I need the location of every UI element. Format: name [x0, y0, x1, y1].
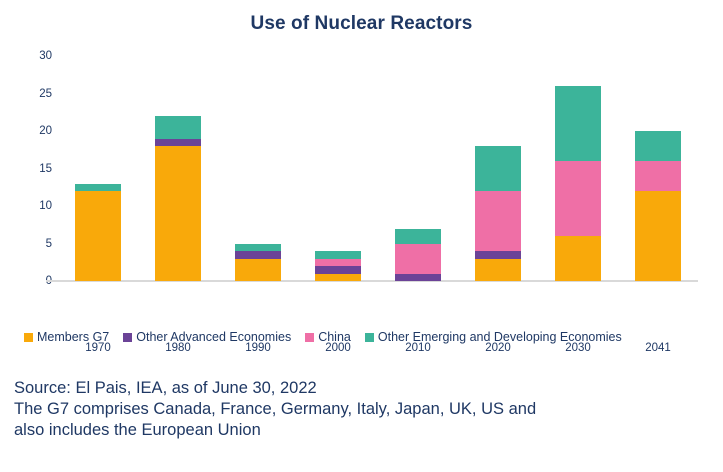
legend-item[interactable]: Members G7 [24, 330, 109, 344]
bar-segment[interactable] [475, 259, 521, 282]
chart-figure: Use of Nuclear Reactors 051015202530 197… [0, 0, 723, 360]
bar-segment[interactable] [635, 161, 681, 191]
bar-segment[interactable] [75, 184, 121, 192]
bar-group[interactable] [395, 229, 441, 282]
bar-segment[interactable] [555, 236, 601, 281]
legend-item[interactable]: China [305, 330, 351, 344]
bar-group[interactable] [555, 86, 601, 281]
y-axis-tick-label: 20 [0, 125, 52, 137]
bar-segment[interactable] [635, 191, 681, 281]
plot-area: 19701980199020002010202020302041 [58, 56, 698, 281]
legend-label: Members G7 [37, 330, 109, 344]
bar-segment[interactable] [395, 274, 441, 282]
legend-label: Other Emerging and Developing Economies [378, 330, 622, 344]
legend-label: Other Advanced Economies [136, 330, 291, 344]
y-axis-tick-label: 0 [0, 275, 52, 287]
bar-segment[interactable] [475, 191, 521, 251]
y-axis-tick-label: 5 [0, 238, 52, 250]
bar-segment[interactable] [315, 251, 361, 259]
y-axis-tick-label: 15 [0, 163, 52, 175]
bar-segment[interactable] [315, 259, 361, 267]
y-axis-tick-label: 25 [0, 88, 52, 100]
y-axis-tick-label: 30 [0, 50, 52, 62]
bar-segment[interactable] [395, 229, 441, 244]
footnote-line-3: also includes the European Union [14, 420, 714, 441]
legend-label: China [318, 330, 351, 344]
bar-segment[interactable] [635, 131, 681, 161]
bar-segment[interactable] [475, 251, 521, 259]
bar-group[interactable] [635, 131, 681, 281]
chart-legend: Members G7Other Advanced EconomiesChinaO… [24, 330, 714, 344]
bar-group[interactable] [475, 146, 521, 281]
bar-group[interactable] [75, 184, 121, 282]
chart-title: Use of Nuclear Reactors [0, 13, 723, 35]
bar-segment[interactable] [475, 146, 521, 191]
bar-group[interactable] [155, 116, 201, 281]
bar-segment[interactable] [155, 139, 201, 147]
legend-swatch-icon [305, 333, 314, 342]
y-axis-tick-label: 10 [0, 200, 52, 212]
footnote-line-2: The G7 comprises Canada, France, Germany… [14, 399, 714, 420]
bar-segment[interactable] [315, 274, 361, 282]
legend-swatch-icon [24, 333, 33, 342]
legend-swatch-icon [365, 333, 374, 342]
bar-segment[interactable] [235, 251, 281, 259]
legend-swatch-icon [123, 333, 132, 342]
legend-item[interactable]: Other Emerging and Developing Economies [365, 330, 622, 344]
y-axis: 051015202530 [0, 56, 52, 281]
bar-segment[interactable] [235, 259, 281, 282]
footnote-line-1: Source: El Pais, IEA, as of June 30, 202… [14, 378, 714, 399]
bar-group[interactable] [235, 244, 281, 282]
bar-group[interactable] [315, 251, 361, 281]
bar-segment[interactable] [555, 86, 601, 161]
footnote: Source: El Pais, IEA, as of June 30, 202… [14, 378, 714, 441]
bar-segment[interactable] [555, 161, 601, 236]
bar-segment[interactable] [235, 244, 281, 252]
bar-segment[interactable] [155, 116, 201, 139]
bar-segment[interactable] [395, 244, 441, 274]
bar-segment[interactable] [315, 266, 361, 274]
bar-segment[interactable] [75, 191, 121, 281]
legend-item[interactable]: Other Advanced Economies [123, 330, 291, 344]
bar-segment[interactable] [155, 146, 201, 281]
